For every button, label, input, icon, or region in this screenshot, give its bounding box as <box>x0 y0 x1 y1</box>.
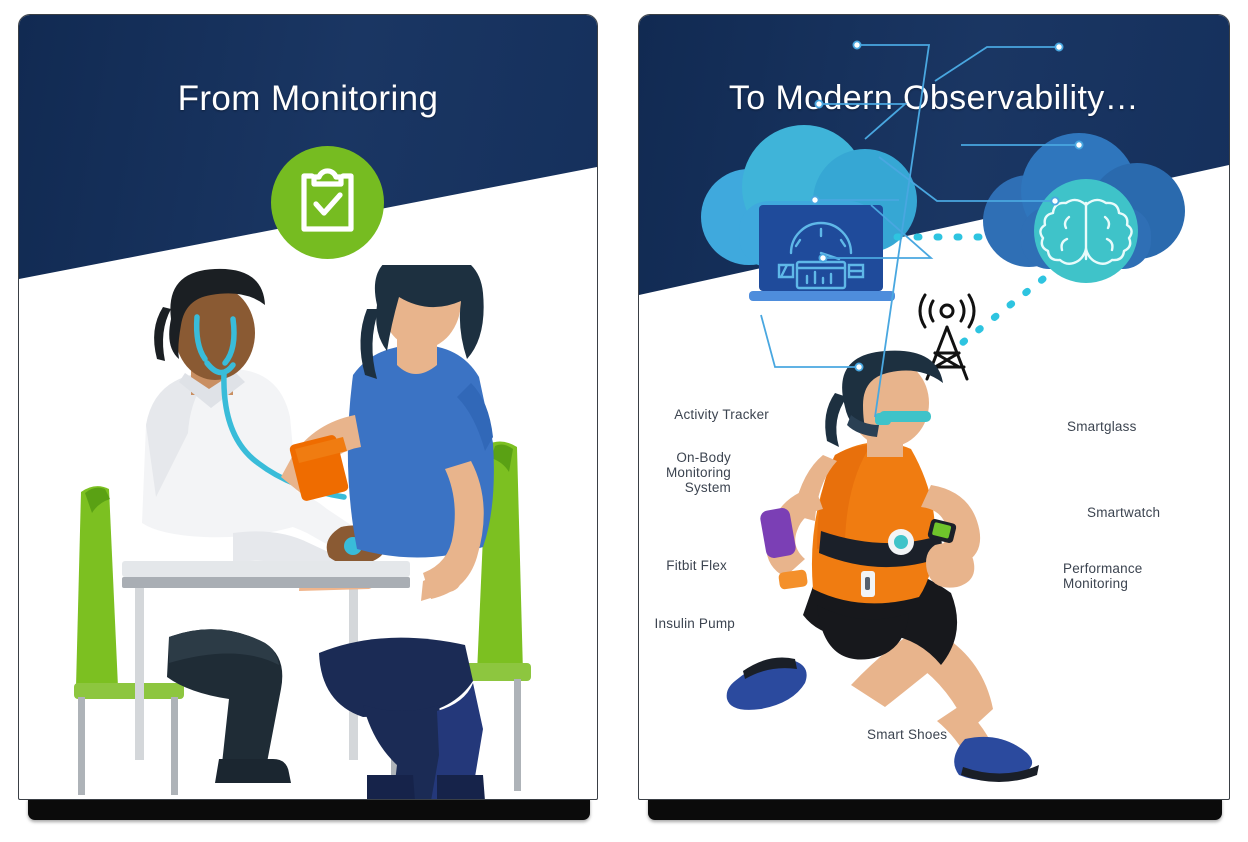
doctor-patient-illustration <box>19 265 598 800</box>
label-on-body-monitoring-system: On-Body Monitoring System <box>638 450 731 495</box>
exam-table <box>122 561 410 588</box>
label-fitbit-flex: Fitbit Flex <box>638 558 727 573</box>
runner-figure <box>727 351 1039 782</box>
label-smart-shoes: Smart Shoes <box>867 727 1047 742</box>
label-performance-monitoring: Performance Monitoring <box>1063 561 1230 591</box>
cloud-laptop-group <box>701 125 917 301</box>
label-smartglass: Smartglass <box>1067 419 1230 434</box>
page-title-left: From Monitoring <box>19 79 597 119</box>
label-insulin-pump: Insulin Pump <box>638 616 735 631</box>
card-base-right <box>648 798 1222 820</box>
label-smartwatch: Smartwatch <box>1087 505 1230 520</box>
card-to-modern-observability[interactable]: To Modern Observability… <box>638 14 1230 800</box>
laptop-dashboard-icon <box>749 205 895 301</box>
card-from-monitoring[interactable]: From Monitoring <box>18 14 598 800</box>
cloud-brain-group <box>983 133 1185 283</box>
brain-icon <box>1034 179 1138 283</box>
label-activity-tracker: Activity Tracker <box>638 407 769 422</box>
card-base-left <box>28 798 590 820</box>
slide-canvas: From Monitoring <box>0 0 1248 842</box>
clipboard-check-icon <box>271 146 384 259</box>
link-dotted-diagonal <box>957 279 1043 347</box>
